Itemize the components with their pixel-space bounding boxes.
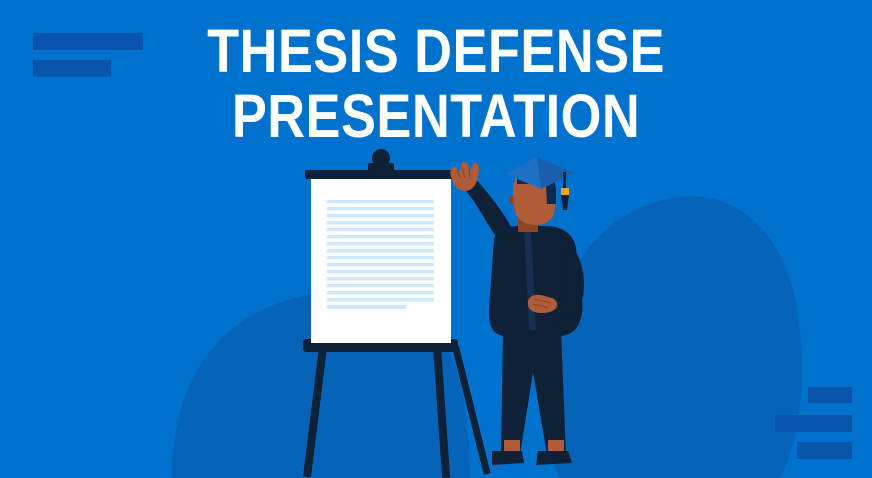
person-ear [509, 196, 514, 205]
person-shoe-right [536, 451, 572, 465]
person-ankle-right [548, 440, 564, 452]
easel-leg-right [452, 346, 490, 475]
illustration-student-presenting [0, 0, 872, 478]
cap-tassel-cord [563, 172, 566, 188]
person-legs [501, 330, 566, 455]
easel-leg-center [433, 347, 450, 478]
cap-tassel [561, 195, 569, 210]
board-knob [372, 149, 390, 167]
flipchart-board [305, 149, 457, 343]
easel-leg-left [303, 347, 327, 478]
easel-stand [303, 339, 491, 478]
person-shoe-left [492, 451, 524, 465]
slide-canvas: THESIS DEFENSE PRESENTATION [0, 0, 872, 478]
cap-tassel-band [561, 188, 569, 195]
person-ankle-left [504, 440, 520, 452]
cap-board-shade [537, 157, 574, 189]
